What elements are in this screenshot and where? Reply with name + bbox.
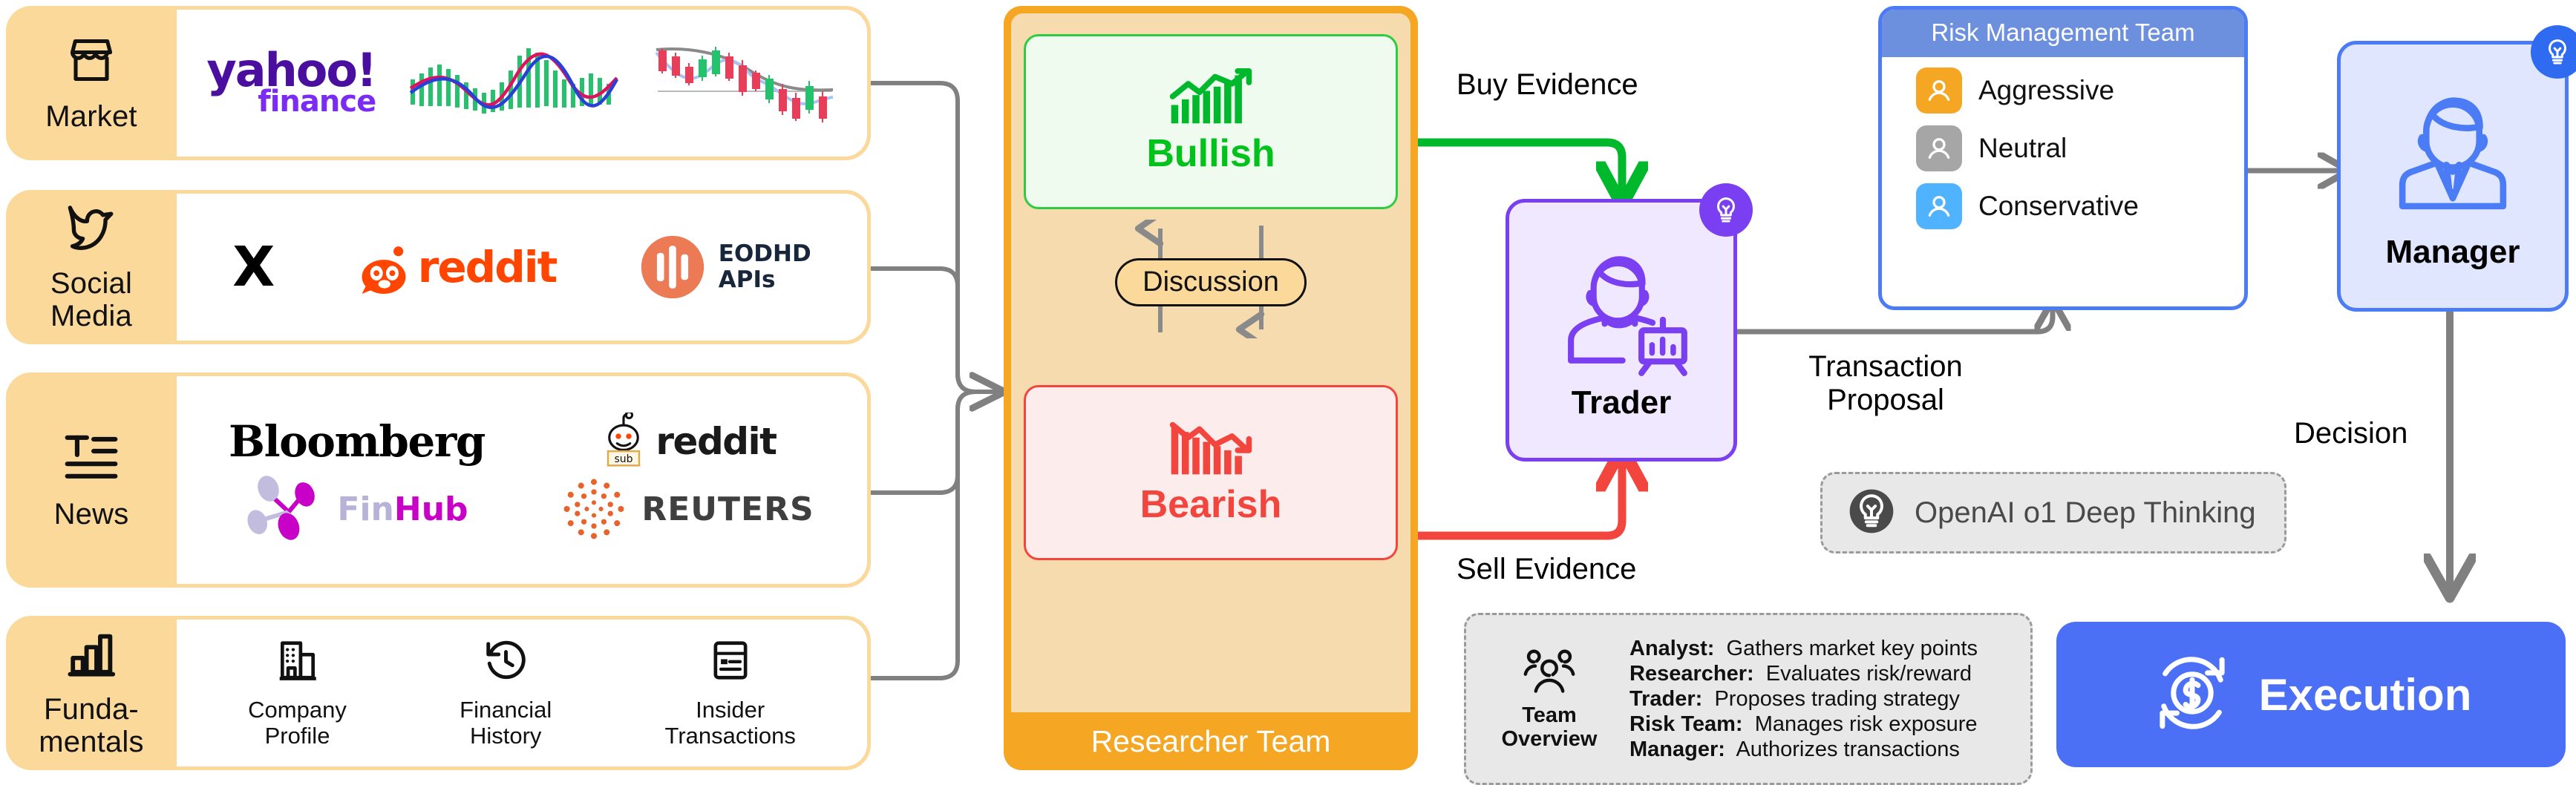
bearish-card[interactable]: Bearish (1024, 385, 1398, 560)
source-label-text: Funda-mentals (39, 694, 143, 758)
team-overview-row: Researcher: Evaluates risk/reward (1629, 662, 1978, 686)
reddit-logo[interactable]: reddit (357, 240, 557, 294)
volume-indicator-chart[interactable] (406, 35, 621, 131)
twitter-bird-icon (62, 202, 121, 257)
team-overview-row: Risk Team: Manages risk exposure (1629, 712, 1978, 737)
team-overview-legend: TeamOverview Analyst: Gathers market key… (1464, 613, 2033, 785)
team-overview-caption: TeamOverview (1482, 647, 1616, 752)
source-label-fundamentals: Funda-mentals (6, 616, 177, 770)
bloomberg-wordmark: Bloomberg (229, 416, 485, 467)
edge-label-sell-evidence: Sell Evidence (1457, 553, 1636, 586)
fundamentals-insider-transactions[interactable]: InsiderTransactions (665, 637, 796, 749)
discussion-chip[interactable]: Discussion (1115, 258, 1307, 306)
execution-card[interactable]: Execution (2056, 622, 2566, 767)
risk-member-label: Aggressive (1978, 75, 2114, 106)
risk-member-neutral[interactable]: Neutral (1916, 125, 2244, 171)
subreddit-wordmark: reddit (656, 420, 776, 463)
trader-card[interactable]: Trader (1506, 199, 1737, 462)
lightbulb-icon[interactable] (2531, 25, 2576, 79)
source-items-market: yahoo! finance (177, 10, 867, 157)
team-overview-row: Manager: Authorizes transactions (1629, 738, 1978, 762)
source-label-social-media: SocialMedia (6, 190, 177, 344)
risk-member-label: Neutral (1978, 133, 2067, 164)
source-row-social-media[interactable]: SocialMedia X reddit (6, 190, 871, 344)
execution-label: Execution (2259, 669, 2472, 720)
risk-team-members: Aggressive Neutral Conservative (1882, 57, 2244, 240)
downtrend-bars-icon (1167, 419, 1255, 482)
trader-label: Trader (1572, 384, 1672, 421)
svg-text:sub: sub (615, 453, 633, 465)
source-items-fundamentals: CompanyProfile FinancialHistory (177, 620, 867, 766)
source-items-social-media: X reddit (177, 194, 867, 341)
team-overview-rows: Analyst: Gathers market key points Resea… (1629, 637, 1978, 762)
finhub-wordmark-fin: Fin (337, 490, 393, 528)
finance-wordmark: finance (258, 90, 376, 114)
researcher-team-body: Bullish Discussion (1011, 13, 1410, 712)
source-label-text: News (54, 499, 129, 531)
bullish-label: Bullish (1146, 131, 1275, 176)
dollar-refresh-icon (2151, 651, 2234, 738)
researcher-team-panel[interactable]: Bullish Discussion (1004, 6, 1418, 770)
manager-card[interactable]: Manager (2337, 41, 2569, 312)
x-logo[interactable]: X (232, 235, 275, 299)
edge-label-buy-evidence: Buy Evidence (1457, 68, 1638, 102)
bar-chart-icon (64, 628, 119, 683)
source-label-news: News (6, 372, 177, 588)
source-row-news[interactable]: News Bloomberg sub reddit (6, 372, 871, 588)
deep-thinking-label: OpenAI o1 Deep Thinking (1915, 496, 2256, 530)
person-avatar-icon (1916, 68, 1962, 114)
storefront-icon (62, 33, 120, 91)
reddit-mascot-icon (357, 240, 411, 294)
eodhd-mark-icon (638, 233, 707, 301)
fundamentals-company-profile[interactable]: CompanyProfile (248, 637, 347, 749)
researcher-team-footer: Researcher Team (1004, 712, 1418, 770)
reddit-wordmark: reddit (418, 242, 557, 292)
team-overview-caption-text: TeamOverview (1502, 704, 1598, 752)
diagram-canvas: Market yahoo! finance (0, 0, 2576, 775)
person-suit-icon (2379, 82, 2527, 234)
lightbulb-icon[interactable] (1699, 183, 1753, 237)
yahoo-finance-logo[interactable]: yahoo! finance (206, 52, 376, 114)
reuters-dots-icon (560, 475, 628, 543)
eodhd-wordmark: EODHDAPIs (719, 241, 811, 292)
fundamentals-caption: FinancialHistory (460, 697, 552, 749)
deep-thinking-chip[interactable]: OpenAI o1 Deep Thinking (1820, 472, 2286, 554)
risk-team-title: Risk Management Team (1882, 10, 2244, 57)
source-row-market[interactable]: Market yahoo! finance (6, 6, 871, 160)
bloomberg-logo[interactable]: Bloomberg (205, 416, 509, 467)
source-label-text: Market (45, 101, 137, 133)
edge-label-decision: Decision (2294, 417, 2407, 450)
person-avatar-icon (1916, 183, 1962, 229)
finhub-logo[interactable]: FinHub (205, 470, 509, 548)
office-building-icon (275, 637, 321, 687)
subreddit-mascot-icon: sub (598, 413, 650, 470)
bearish-label: Bearish (1140, 482, 1282, 527)
source-items-news: Bloomberg sub reddit (177, 376, 867, 584)
article-icon (62, 430, 121, 488)
team-overview-row: Trader: Proposes trading strategy (1629, 687, 1978, 712)
source-label-text: SocialMedia (50, 268, 132, 332)
person-avatar-icon (1916, 125, 1962, 171)
manager-label: Manager (2386, 234, 2520, 271)
reuters-wordmark: REUTERS (641, 490, 814, 528)
uptrend-bars-icon (1167, 68, 1255, 131)
lightbulb-dark-icon (1848, 487, 1895, 539)
fundamentals-financial-history[interactable]: FinancialHistory (460, 637, 552, 749)
risk-management-team-panel[interactable]: Risk Management Team Aggressive Neutral (1878, 6, 2248, 310)
fundamentals-caption: CompanyProfile (248, 697, 347, 749)
fundamentals-caption: InsiderTransactions (665, 697, 796, 749)
reuters-logo[interactable]: REUTERS (535, 475, 839, 543)
eodhd-apis-logo[interactable]: EODHDAPIs (638, 233, 811, 301)
x-wordmark: X (232, 235, 275, 299)
source-label-market: Market (6, 6, 177, 160)
team-overview-row: Analyst: Gathers market key points (1629, 637, 1978, 661)
risk-member-conservative[interactable]: Conservative (1916, 183, 2244, 229)
bullish-card[interactable]: Bullish (1024, 34, 1398, 209)
edge-label-transaction-proposal: TransactionProposal (1782, 350, 1990, 417)
people-group-icon (1523, 647, 1576, 698)
history-clock-icon (483, 637, 529, 687)
risk-member-aggressive[interactable]: Aggressive (1916, 68, 2244, 114)
finhub-mark-icon (245, 470, 327, 548)
finhub-wordmark-hub: Hub (394, 490, 468, 528)
candlestick-chart[interactable] (652, 35, 837, 131)
source-row-fundamentals[interactable]: Funda-mentals CompanyProfile (6, 616, 871, 770)
subreddit-logo[interactable]: sub reddit (535, 413, 839, 470)
risk-member-label: Conservative (1978, 191, 2139, 222)
person-presentation-icon (1551, 240, 1692, 384)
document-list-icon (707, 637, 753, 687)
